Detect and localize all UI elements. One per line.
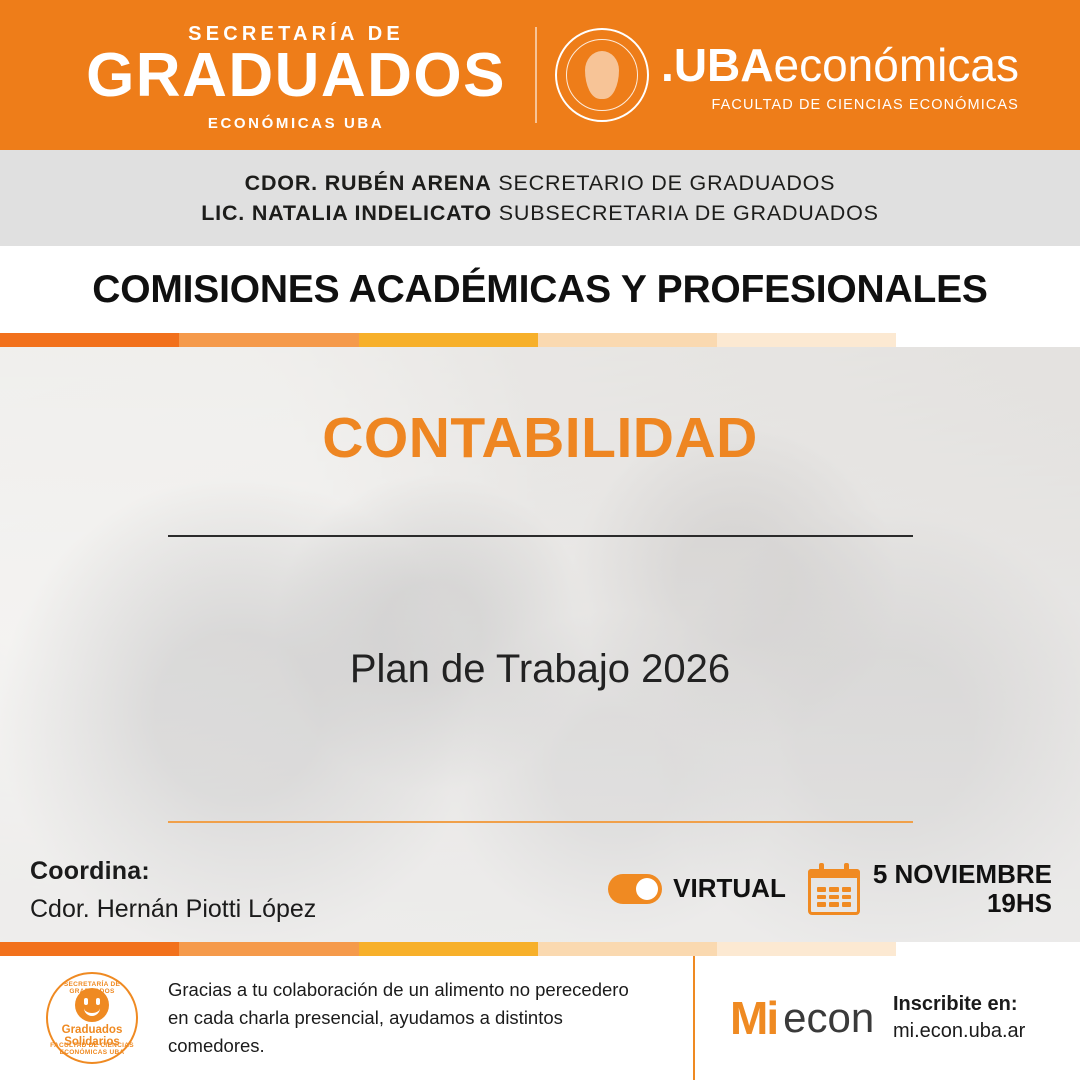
secretaria-graduados-logo: SECRETARÍA DE GRADUADOS ECONÓMICAS UBA [61, 18, 531, 132]
calendar-icon [808, 863, 860, 915]
color-stripe-bottom [0, 942, 1080, 956]
authority-1-name: CDOR. RUBÉN ARENA [245, 171, 492, 195]
uba-faculty-label: FACULTAD DE CIENCIAS ECONÓMICAS [661, 97, 1019, 113]
coordinator-label: Coordina: [30, 857, 316, 886]
authority-1-role: SECRETARIO DE GRADUADOS [492, 171, 836, 195]
authority-2-name: LIC. NATALIA INDELICATO [201, 201, 492, 225]
modality-label: VIRTUAL [673, 873, 786, 904]
coordinator-block: Coordina: Cdor. Hernán Piotti López [30, 857, 316, 924]
modality-block: VIRTUAL [608, 873, 786, 904]
inscribite-label: Inscribite en: [893, 993, 1025, 1016]
brand-line-3: ECONÓMICAS UBA [61, 115, 531, 132]
page-title: COMISIONES ACADÉMICAS Y PROFESIONALES [92, 268, 988, 312]
authority-line-2: LIC. NATALIA INDELICATO SUBSECRETARIA DE… [201, 201, 879, 226]
footer-divider [693, 956, 695, 1080]
coordinator-name: Cdor. Hernán Piotti López [30, 895, 316, 924]
toggle-knob-icon [636, 878, 658, 900]
divider-bottom [168, 821, 913, 823]
badge-arc-bottom: FACULTAD DE CIENCIAS ECONÓMICAS UBA [48, 1042, 136, 1056]
authorities-band: CDOR. RUBÉN ARENA SECRETARIO DE GRADUADO… [0, 150, 1080, 246]
footer-band: SECRETARÍA DE GRADUADOS Graduados Solida… [0, 956, 1080, 1080]
commission-title-bar: COMISIONES ACADÉMICAS Y PROFESIONALES [0, 246, 1080, 333]
uba-prefix: .UBA [661, 39, 773, 91]
virtual-toggle[interactable] [608, 874, 662, 904]
date-line-1: 5 NOVIEMBRE [873, 860, 1052, 889]
mi-econ-logo: Mi econ [730, 995, 874, 1041]
graduados-solidarios-logo: SECRETARÍA DE GRADUADOS Graduados Solida… [30, 970, 154, 1066]
uba-economicas-logo: .UBAeconómicas FACULTAD DE CIENCIAS ECON… [545, 28, 1019, 122]
inscribite-url[interactable]: mi.econ.uba.ar [893, 1020, 1025, 1043]
badge-name-line-1: Graduados [62, 1024, 123, 1036]
divider-top [168, 535, 913, 537]
donation-message: Gracias a tu colaboración de un alimento… [168, 976, 638, 1059]
poster: SECRETARÍA DE GRADUADOS ECONÓMICAS UBA .… [0, 0, 1080, 1080]
date-line-2: 19HS [873, 889, 1052, 918]
smiley-icon [75, 988, 109, 1022]
brand-line-2: GRADUADOS [61, 46, 531, 107]
uba-suffix: económicas [774, 39, 1019, 91]
event-subtitle: Plan de Trabajo 2026 [350, 647, 730, 692]
donation-line-1: Gracias a tu colaboración de un alimento… [168, 976, 638, 1004]
registration-block: Inscribite en: mi.econ.uba.ar [893, 993, 1025, 1043]
header-band: SECRETARÍA DE GRADUADOS ECONÓMICAS UBA .… [0, 0, 1080, 150]
mi-econ-word: econ [783, 997, 874, 1039]
authority-2-role: SUBSECRETARIA DE GRADUADOS [492, 201, 879, 225]
color-stripe-top [0, 333, 1080, 347]
main-section: CONTABILIDAD Plan de Trabajo 2026 Coordi… [0, 347, 1080, 942]
authority-line-1: CDOR. RUBÉN ARENA SECRETARIO DE GRADUADO… [245, 171, 836, 196]
topic-title: CONTABILIDAD [322, 405, 758, 471]
uba-seal-icon [555, 28, 649, 122]
date-block: 5 NOVIEMBRE 19HS [808, 860, 1052, 918]
event-info-row: Coordina: Cdor. Hernán Piotti López VIRT… [0, 857, 1080, 924]
header-divider [535, 27, 537, 123]
donation-line-2: en cada charla presencial, ayudamos a di… [168, 1004, 638, 1060]
mi-econ-mark: Mi [730, 995, 777, 1041]
